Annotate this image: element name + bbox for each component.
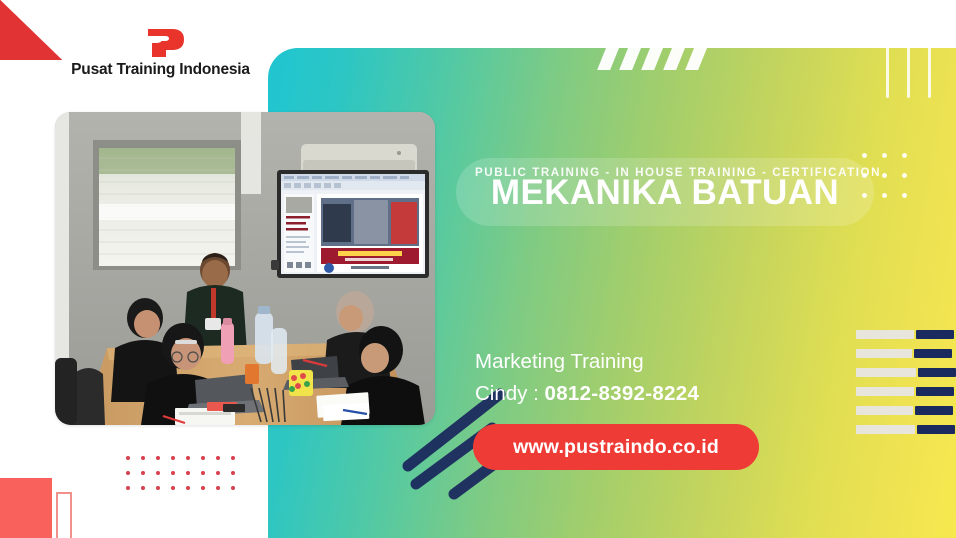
vertical-lines-decoration [886, 48, 931, 98]
page-title: MEKANIKA BATUAN [491, 175, 839, 210]
red-dot-grid-decoration [126, 456, 235, 490]
contact-role: Marketing Training [475, 350, 644, 375]
bottom-left-square-decoration [0, 478, 52, 538]
bottom-left-outline-square-decoration [56, 492, 72, 538]
pustraindo-p-logo-icon [135, 26, 187, 58]
website-button[interactable]: www.pustraindo.co.id [473, 424, 759, 470]
banner-canvas: Pusat Training Indonesia [0, 0, 956, 538]
title-pill: MEKANIKA BATUAN [456, 158, 874, 226]
brand-logo: Pusat Training Indonesia [58, 26, 263, 92]
training-classroom-illustration [55, 112, 435, 425]
website-button-label: www.pustraindo.co.id [513, 436, 719, 459]
contact-name-label: Cindy : [475, 382, 539, 405]
top-left-triangle-decoration [0, 0, 62, 60]
contact-phone-line: Cindy : 0812-8392-8224 [475, 382, 699, 407]
contact-phone-number: 0812-8392-8224 [545, 382, 700, 405]
brand-name: Pusat Training Indonesia [71, 62, 250, 78]
training-photo [55, 112, 435, 425]
striped-bars-decoration [856, 330, 956, 434]
slanted-bars-decoration [604, 48, 705, 70]
